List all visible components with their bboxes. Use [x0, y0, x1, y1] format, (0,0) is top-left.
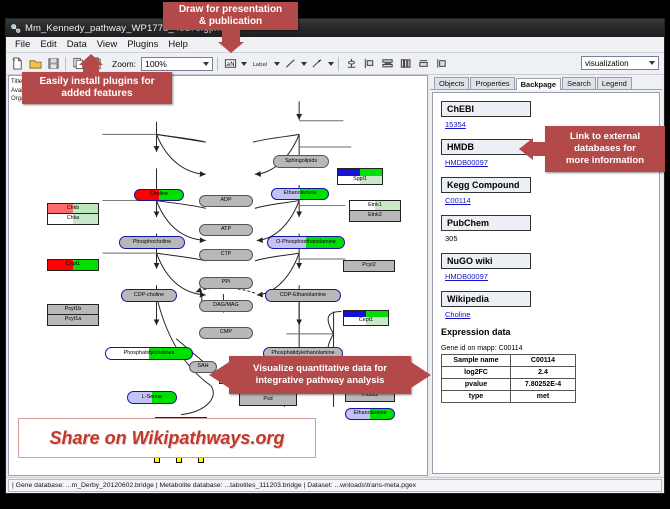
node-ppi[interactable]: PPi: [199, 277, 253, 289]
expr-key-log2fc: log2FC: [442, 367, 511, 379]
toolbar-separator: [65, 57, 66, 71]
zoom-value: 100%: [145, 59, 203, 69]
node-etnk1[interactable]: Etnk1: [349, 200, 401, 211]
db-header-chebi: ChEBI: [441, 101, 531, 117]
node-ctp[interactable]: CTP: [199, 249, 253, 261]
node-pcyt1a[interactable]: Pcyt1a: [47, 315, 99, 326]
expr-key-sample-name: Sample name: [442, 355, 511, 367]
align-left-icon[interactable]: [361, 56, 377, 72]
node-psd[interactable]: Psd: [239, 393, 297, 406]
callout-share-text: Share on Wikipathways.org: [50, 428, 285, 449]
menu-item-data[interactable]: Data: [62, 39, 92, 50]
chevron-down-icon-datanode[interactable]: [241, 62, 247, 66]
node-sgpl1-bar[interactable]: [337, 168, 383, 176]
node-cept1[interactable]: Cept1: [343, 317, 389, 326]
interaction-icon[interactable]: [309, 56, 325, 72]
node-ethanolamine-right[interactable]: Ethanolamine: [345, 408, 395, 420]
chevron-down-icon[interactable]: [203, 62, 209, 66]
zoom-label: Zoom:: [112, 59, 136, 69]
callout-link-line3: more information: [566, 155, 644, 167]
node-l-serine-left[interactable]: L-Serine: [127, 391, 177, 404]
zoom-combobox[interactable]: 100%: [141, 57, 213, 71]
screenshot-root: Mm_Kennedy_pathway_WP1771_45176.gpml Fil…: [0, 0, 670, 509]
db-header-nugowiki: NuGO wiki: [441, 253, 531, 269]
visualization-value: visualization: [585, 59, 649, 68]
pathway-canvas[interactable]: Title: Availab Organi: [8, 75, 428, 476]
callout-link-arrow-head: [519, 138, 533, 160]
callout-draw-line2: & publication: [199, 16, 262, 29]
expression-table: Sample name C00114 log2FC 2.4 pvalue 7.8…: [441, 354, 576, 403]
expr-val-sample-name: C00114: [511, 355, 576, 367]
line-icon[interactable]: [282, 56, 298, 72]
save-file-icon[interactable]: [45, 56, 61, 72]
tab-backpage[interactable]: Backpage: [516, 78, 561, 90]
callout-draw-line1: Draw for presentation: [179, 4, 282, 17]
callout-draw-arrow-head: [218, 42, 244, 53]
expr-key-pvalue: pvalue: [442, 379, 511, 391]
new-file-icon[interactable]: [9, 56, 25, 72]
node-cept1-bar[interactable]: [343, 310, 389, 317]
callout-draw-for-publication: Draw for presentation & publication: [163, 2, 298, 30]
node-etnk2[interactable]: Etnk2: [349, 211, 401, 222]
db-link-nugowiki[interactable]: HMDB00097: [445, 272, 651, 281]
toolbar-separator-3: [338, 57, 339, 71]
distribute-icon[interactable]: [397, 56, 413, 72]
db-header-pubchem: PubChem: [441, 215, 531, 231]
node-choline-top[interactable]: Choline: [134, 189, 184, 201]
node-o-phosphoethanolamine[interactable]: O-Phosphoethanolamine: [267, 236, 345, 249]
status-bar-text: | Gene database: ...m_Derby_20120602.bri…: [8, 479, 662, 492]
callout-visualize-line1: Visualize quantitative data for: [253, 363, 387, 375]
table-row: Sample name C00114: [442, 355, 576, 367]
align-top-icon[interactable]: [379, 56, 395, 72]
node-adp[interactable]: ADP: [199, 195, 253, 207]
callout-link-line2: databases for: [574, 143, 636, 155]
db-header-kegg: Kegg Compound: [441, 177, 531, 193]
callout-install-plugins: Easily install plugins for added feature…: [22, 72, 172, 104]
menu-bar: File Edit Data View Plugins Help: [6, 37, 664, 53]
db-value-pubchem: 305: [445, 234, 651, 243]
expression-gene-id: Gene id on mapp: C00114: [441, 345, 651, 352]
db-link-kegg[interactable]: C00114: [445, 196, 651, 205]
table-row: type met: [442, 391, 576, 403]
node-cmp[interactable]: CMP: [199, 327, 253, 339]
chevron-down-icon-line[interactable]: [301, 62, 307, 66]
chevron-down-icon-visualization[interactable]: [649, 61, 655, 65]
menu-item-plugins[interactable]: Plugins: [122, 39, 163, 50]
db-header-hmdb: HMDB: [441, 139, 531, 155]
chevron-down-icon-label[interactable]: [274, 62, 280, 66]
tab-legend[interactable]: Legend: [597, 77, 632, 89]
open-file-icon[interactable]: [27, 56, 43, 72]
visualization-combobox[interactable]: visualization: [581, 56, 659, 70]
table-row: pvalue 7.80252E-4: [442, 379, 576, 391]
callout-plugins-line1: Easily install plugins for: [39, 76, 154, 89]
svg-text:Label: Label: [253, 62, 268, 68]
menu-item-help[interactable]: Help: [163, 39, 193, 50]
node-chkb[interactable]: Chkb: [47, 203, 99, 214]
callout-link-arrow-stem: [533, 142, 546, 156]
node-dagmag[interactable]: DAG/MAG: [199, 300, 253, 312]
group-icon[interactable]: [433, 56, 449, 72]
datanode-icon[interactable]: aN: [222, 56, 238, 72]
node-chpt1[interactable]: Chpt1: [47, 259, 99, 271]
node-cdp-ethanolamine[interactable]: CDP-Ethanolamine: [265, 289, 341, 302]
callout-draw-arrow-stem: [222, 30, 240, 42]
expr-key-type: type: [442, 391, 511, 403]
anchor-icon[interactable]: [343, 56, 359, 72]
tab-search[interactable]: Search: [562, 77, 596, 89]
toolbar-separator-2: [217, 57, 218, 71]
table-row: log2FC 2.4: [442, 367, 576, 379]
db-header-wikipedia: Wikipedia: [441, 291, 531, 307]
pathvisio-app-icon: [10, 23, 21, 34]
expr-val-type: met: [511, 391, 576, 403]
node-ethanolamine-top[interactable]: Ethanolamine: [271, 188, 329, 200]
node-phosphocholine[interactable]: Phosphocholine: [119, 236, 185, 249]
side-panel-tabs: Objects Properties Backpage Search Legen…: [430, 75, 662, 90]
chevron-down-icon-interaction[interactable]: [328, 62, 334, 66]
callout-external-databases: Link to external databases for more info…: [545, 126, 665, 172]
callout-visualize-line2: integrative pathway analysis: [256, 375, 385, 387]
node-phosphatidylcholines[interactable]: Phosphatidylcholines: [105, 347, 193, 360]
node-atp[interactable]: ATP: [199, 224, 253, 236]
tab-objects[interactable]: Objects: [434, 77, 469, 89]
callout-visualize-text: Visualize quantitative data for integrat…: [229, 356, 411, 394]
menu-item-edit[interactable]: Edit: [35, 39, 61, 50]
node-chka[interactable]: Chka: [47, 214, 99, 225]
node-cdp-choline[interactable]: CDP-choline: [121, 289, 177, 302]
label-icon[interactable]: Label: [249, 56, 271, 72]
node-pcyt2[interactable]: Pcyt2: [343, 260, 395, 272]
window-titlebar: Mm_Kennedy_pathway_WP1771_45176.gpml: [6, 19, 664, 37]
menu-item-view[interactable]: View: [92, 39, 122, 50]
callout-link-line1: Link to external: [570, 131, 640, 143]
callout-plugins-arrow-head: [79, 54, 103, 65]
callout-share-wikipathways: Share on Wikipathways.org: [18, 418, 316, 458]
callout-visualize-arrow-head-right: [411, 362, 431, 388]
node-pcyt1b[interactable]: Pcyt1b: [47, 304, 99, 315]
expr-val-pvalue: 7.80252E-4: [511, 379, 576, 391]
expression-data-title: Expression data: [441, 327, 651, 337]
status-bar: | Gene database: ...m_Derby_20120602.bri…: [6, 477, 664, 493]
svg-text:aN: aN: [226, 61, 234, 68]
callout-plugins-line2: added features: [61, 88, 132, 101]
menu-item-file[interactable]: File: [10, 39, 35, 50]
stack-icon[interactable]: [415, 56, 431, 72]
expr-val-log2fc: 2.4: [511, 367, 576, 379]
node-sgpl1[interactable]: Sgpl1: [337, 176, 383, 185]
callout-plugins-arrow-stem: [83, 64, 99, 73]
callout-visualize-arrow-head-left: [209, 362, 229, 388]
node-sphingolipids[interactable]: Sphingolipids: [273, 155, 329, 168]
db-link-wikipedia[interactable]: Choline: [445, 310, 651, 319]
tab-properties[interactable]: Properties: [470, 77, 514, 89]
